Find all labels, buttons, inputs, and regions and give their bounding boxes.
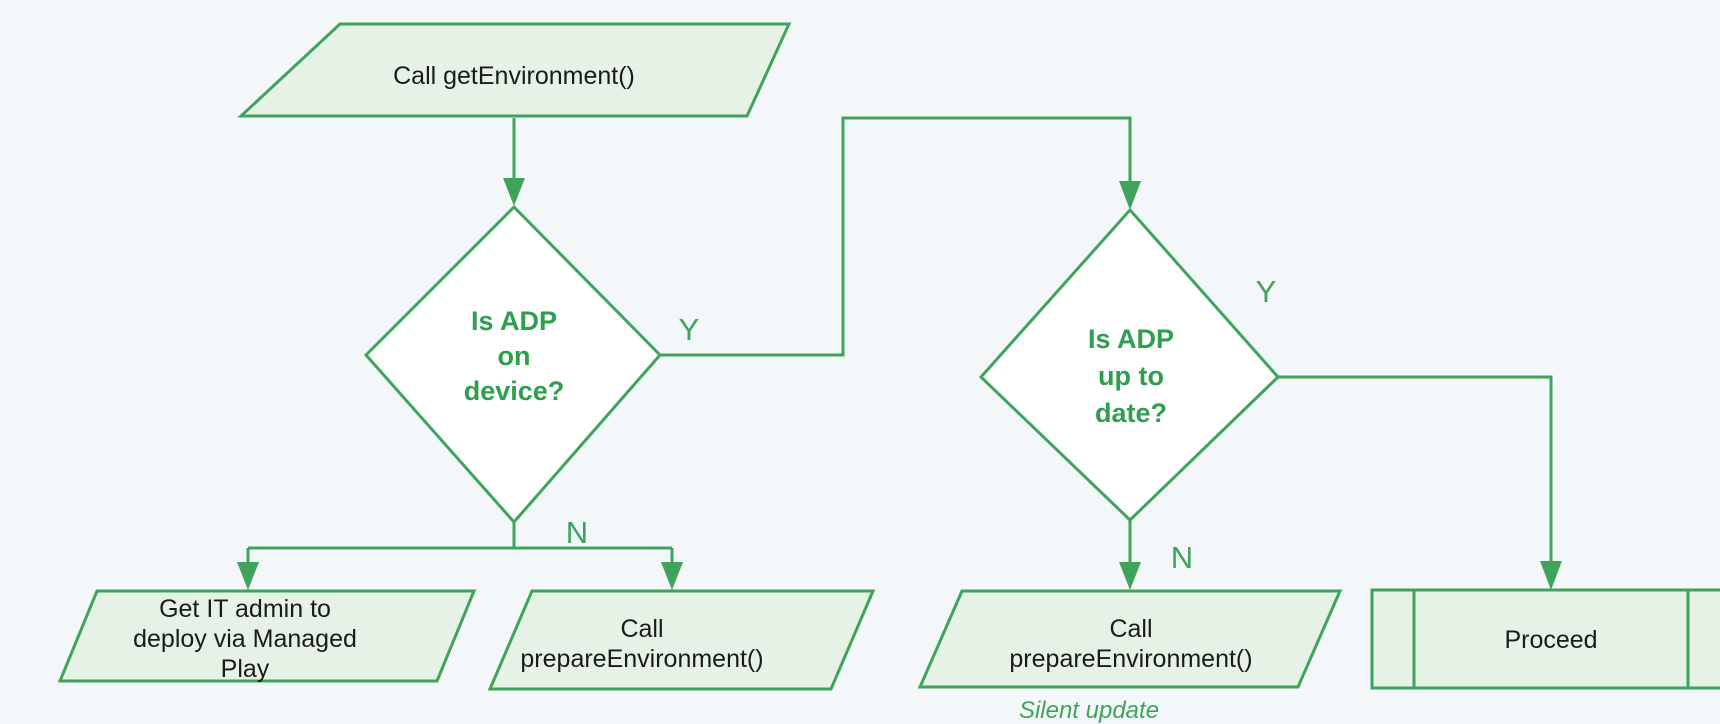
caption-silent-update: Silent update — [1019, 697, 1159, 724]
branch-label-up-to-date-no: N — [1171, 540, 1193, 575]
node-label-managed-play-line2: deploy via Managed — [133, 625, 357, 653]
node-label-is-adp-on-device-line2: on — [498, 341, 531, 371]
node-label-is-adp-on-device-line3: device? — [464, 376, 565, 406]
node-label-managed-play-line3: Play — [221, 655, 270, 683]
node-call-prepare-environment-right[interactable]: Call prepareEnvironment() — [920, 591, 1340, 687]
node-label-is-adp-on-device-line1: Is ADP — [471, 306, 557, 336]
node-label-is-adp-up-to-date-line1: Is ADP — [1088, 324, 1174, 354]
arrow-head-icon — [503, 178, 525, 206]
arrow-head-icon — [237, 562, 259, 590]
arrow-head-icon — [661, 562, 683, 590]
node-label-proceed: Proceed — [1504, 626, 1597, 654]
branch-label-up-to-date-yes: Y — [1256, 274, 1277, 309]
node-get-it-admin-managed-play[interactable]: Get IT admin to deploy via Managed Play — [60, 591, 474, 683]
edge-up-to-date-no-to-prepare-env — [1119, 520, 1141, 590]
edge-up-to-date-yes-to-proceed — [1278, 377, 1562, 590]
node-label-is-adp-up-to-date-line3: date? — [1095, 398, 1167, 428]
node-call-prepare-environment-left[interactable]: Call prepareEnvironment() — [490, 591, 873, 689]
branch-label-on-device-no: N — [566, 515, 588, 550]
node-call-get-environment[interactable]: Call getEnvironment() — [241, 24, 789, 116]
node-label-prepare-env-right-line1: Call — [1109, 615, 1152, 643]
node-label-prepare-env-left-line1: Call — [620, 615, 663, 643]
node-shape-parallelogram — [490, 591, 873, 689]
arrow-head-icon — [1119, 562, 1141, 590]
edge-start-to-on-device — [503, 118, 525, 206]
node-label-prepare-env-left-line2: prepareEnvironment() — [520, 645, 763, 673]
flowchart-svg: Call getEnvironment() Is ADP on device? … — [0, 0, 1720, 724]
node-label-prepare-env-right-line2: prepareEnvironment() — [1009, 645, 1252, 673]
node-label-call-get-environment: Call getEnvironment() — [393, 62, 635, 90]
flowchart-canvas: Call getEnvironment() Is ADP on device? … — [0, 0, 1720, 724]
node-proceed[interactable]: Proceed — [1372, 590, 1720, 688]
branch-label-on-device-yes: Y — [679, 312, 700, 347]
arrow-head-icon — [1540, 561, 1562, 590]
node-decision-is-adp-up-to-date[interactable]: Is ADP up to date? — [981, 210, 1278, 520]
arrow-head-icon — [1119, 181, 1141, 210]
node-label-is-adp-up-to-date-line2: up to — [1098, 361, 1164, 391]
node-decision-is-adp-on-device[interactable]: Is ADP on device? — [366, 207, 660, 522]
node-label-managed-play-line1: Get IT admin to — [159, 595, 331, 623]
edge-on-device-no-bus — [237, 522, 683, 590]
